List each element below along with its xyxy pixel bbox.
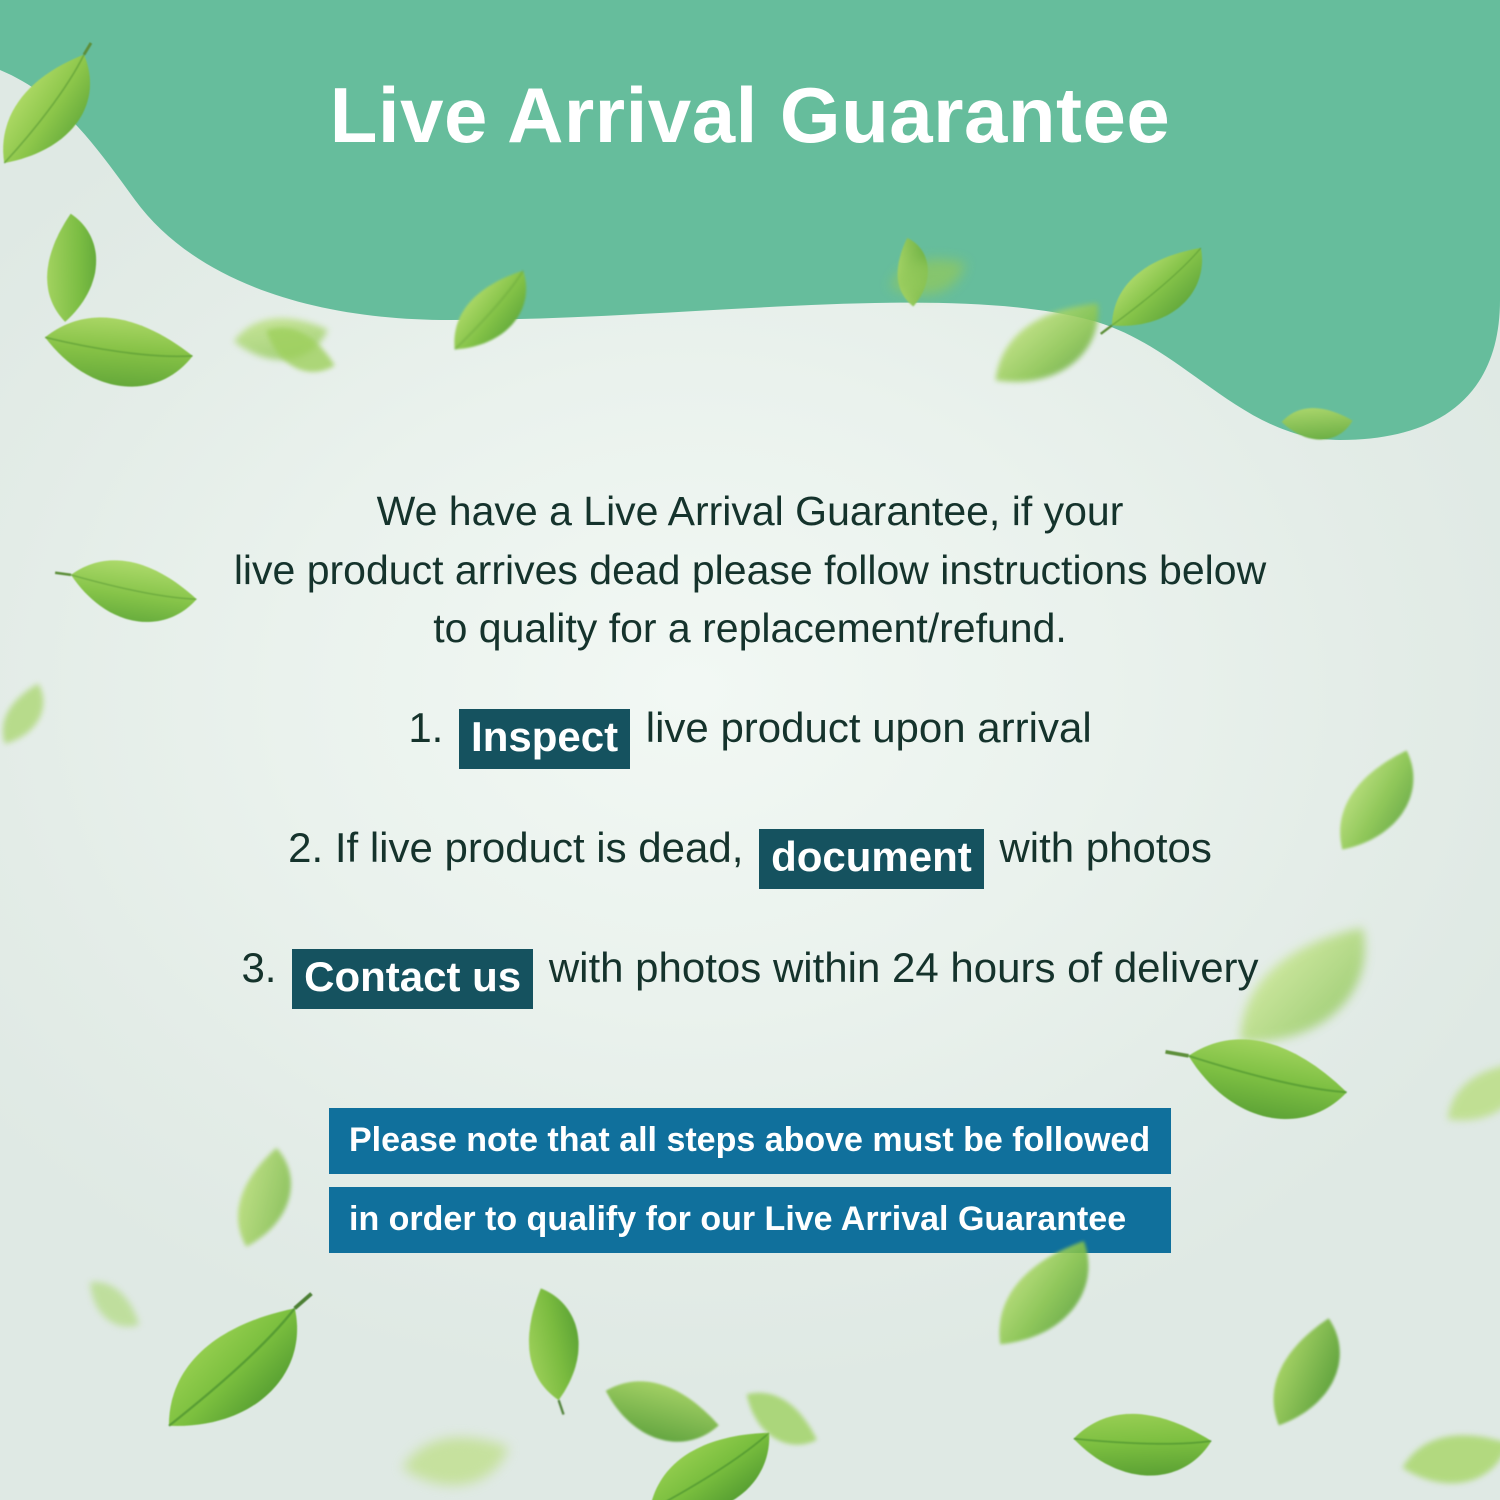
- steps-list: 1. Inspect live product upon arrival 2. …: [0, 700, 1500, 1000]
- step-text-after: with photos: [999, 824, 1211, 871]
- live-arrival-guarantee-poster: Live Arrival Guarantee We have a Live Ar…: [0, 0, 1500, 1500]
- note-banner-line-1: Please note that all steps above must be…: [329, 1108, 1171, 1174]
- step-text-after: with photos within 24 hours of delivery: [549, 944, 1259, 991]
- step-text-before: If live product is dead,: [335, 824, 744, 871]
- step-item-2: 2. If live product is dead, document wit…: [0, 820, 1500, 880]
- intro-line-3: to quality for a replacement/refund.: [150, 599, 1350, 658]
- step-number: 3.: [241, 944, 276, 991]
- step-highlight-contact-us[interactable]: Contact us: [292, 949, 533, 1009]
- note-banner-line-2: in order to qualify for our Live Arrival…: [329, 1187, 1171, 1253]
- intro-paragraph: We have a Live Arrival Guarantee, if you…: [150, 482, 1350, 658]
- intro-line-1: We have a Live Arrival Guarantee, if you…: [150, 482, 1350, 541]
- intro-line-2: live product arrives dead please follow …: [150, 541, 1350, 600]
- step-item-3: 3. Contact us with photos within 24 hour…: [0, 940, 1500, 1000]
- step-item-1: 1. Inspect live product upon arrival: [0, 700, 1500, 760]
- page-title: Live Arrival Guarantee: [0, 76, 1500, 154]
- step-number: 2.: [288, 824, 323, 871]
- step-highlight-document[interactable]: document: [759, 829, 984, 889]
- step-highlight-inspect[interactable]: Inspect: [459, 709, 630, 769]
- footer-notes: Please note that all steps above must be…: [0, 1108, 1500, 1253]
- step-number: 1.: [408, 704, 443, 751]
- step-text-after: live product upon arrival: [646, 704, 1092, 751]
